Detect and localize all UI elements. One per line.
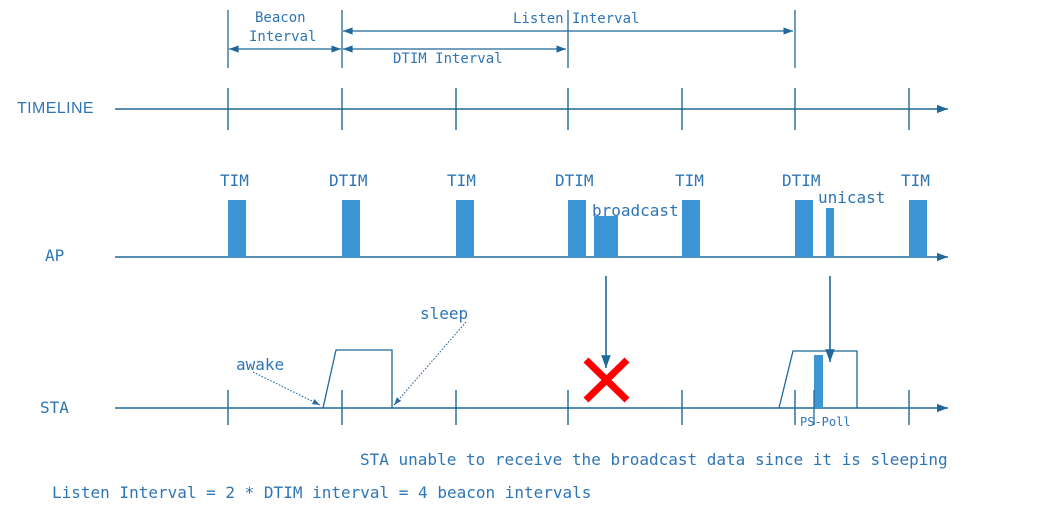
row-label-sta: STA bbox=[40, 400, 69, 416]
ap-beacon-label-7: TIM bbox=[901, 173, 930, 189]
ap-bar-dtim-2 bbox=[568, 200, 586, 257]
listen-interval-label: Listen Interval bbox=[513, 12, 639, 26]
ap-bars bbox=[228, 200, 927, 257]
unicast-frame-label: unicast bbox=[818, 190, 885, 206]
ap-bar-dtim-1 bbox=[342, 200, 360, 257]
ap-beacon-label-2: DTIM bbox=[329, 173, 368, 189]
footer-formula: Listen Interval = 2 * DTIM interval = 4 … bbox=[52, 485, 591, 501]
ap-bar-tim-3 bbox=[682, 200, 700, 257]
row-label-ap: AP bbox=[45, 248, 64, 264]
awake-label: awake bbox=[236, 357, 284, 373]
awake-pulse-1 bbox=[323, 350, 392, 408]
broadcast-frame-label: broadcast bbox=[592, 203, 679, 219]
ap-bar-tim-4 bbox=[909, 200, 927, 257]
awake-callout-arrow bbox=[253, 372, 320, 405]
ps-poll-bar bbox=[814, 355, 823, 408]
ap-bar-broadcast bbox=[594, 216, 618, 257]
footer-note: STA unable to receive the broadcast data… bbox=[360, 452, 948, 468]
timeline-axis bbox=[115, 88, 948, 130]
dtim-interval-label: DTIM Interval bbox=[393, 52, 503, 66]
callout-arrows bbox=[253, 322, 466, 405]
sleep-label: sleep bbox=[420, 306, 468, 322]
beacon-interval-label-line2: Interval bbox=[249, 30, 316, 44]
ap-beacon-label-4: DTIM bbox=[555, 173, 594, 189]
ap-bar-tim-1 bbox=[228, 200, 246, 257]
timing-diagram: TIMELINE AP STA Beacon Interval Listen I… bbox=[0, 0, 1054, 518]
ap-beacon-label-1: TIM bbox=[220, 173, 249, 189]
row-label-timeline: TIMELINE bbox=[17, 101, 94, 117]
ap-bar-dtim-3 bbox=[795, 200, 813, 257]
ap-bar-tim-2 bbox=[456, 200, 474, 257]
ap-beacon-label-3: TIM bbox=[447, 173, 476, 189]
ap-beacon-label-6: DTIM bbox=[782, 173, 821, 189]
ap-beacon-label-5: TIM bbox=[675, 173, 704, 189]
ps-poll-label: PS-Poll bbox=[800, 416, 851, 428]
diagram-canvas bbox=[0, 0, 1054, 518]
ap-bar-unicast bbox=[826, 208, 834, 257]
sleep-callout-arrow bbox=[394, 322, 466, 405]
beacon-interval-label-line1: Beacon bbox=[255, 11, 306, 25]
